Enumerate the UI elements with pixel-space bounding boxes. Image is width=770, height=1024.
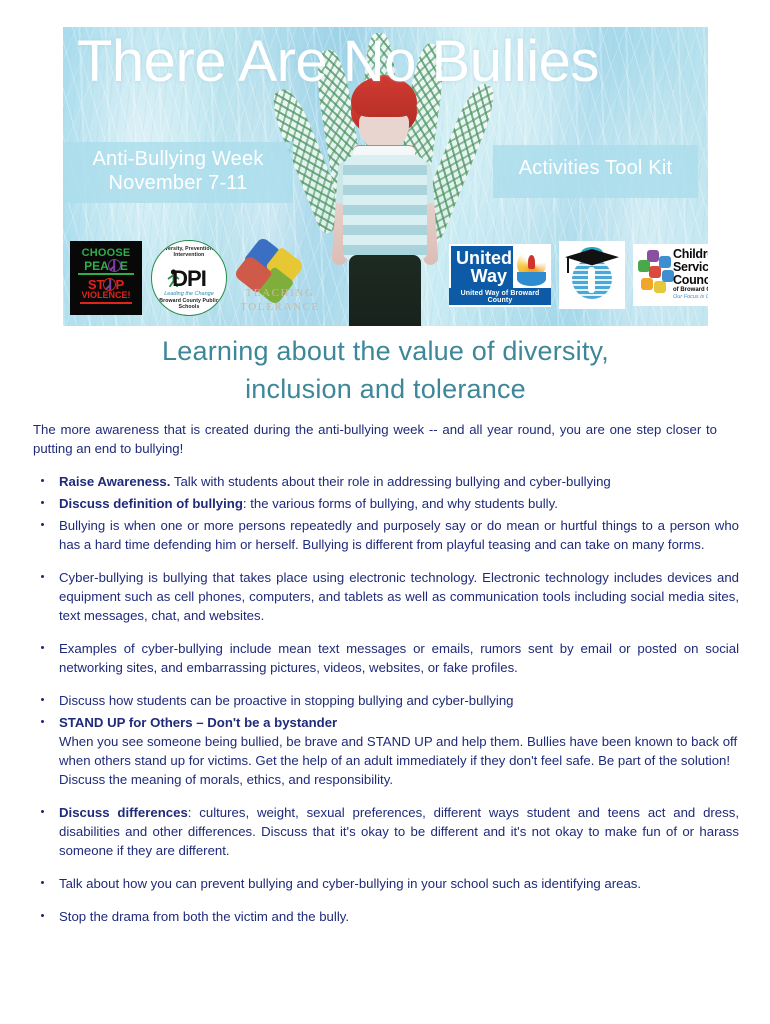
list-item-raise-awareness: Raise Awareness. Talk with students abou…	[33, 472, 739, 491]
choose-peace-line4: VIOLENCE!	[74, 291, 138, 301]
choose-peace-line1: CHOOSE	[74, 248, 138, 259]
list-item-students-proactive: Discuss how students can be proactive in…	[33, 691, 739, 710]
sponsor-logo-row: CHOOSE PEAE STP VIOLENCE! Diversity, Pre…	[63, 235, 708, 317]
person-icon	[528, 255, 535, 269]
teaching-tolerance-wordmark: TEACHING TOLERANCE	[238, 287, 322, 315]
bullet-text: Discuss definition of bullying: the vari…	[59, 494, 739, 513]
document-body: The more awareness that is created durin…	[33, 420, 739, 929]
banner-title: There Are No Bullies	[77, 33, 708, 91]
list-item-bullying-definition: Bullying is when one or more persons rep…	[33, 516, 739, 554]
anti-bullying-week-line2: November 7-11	[63, 171, 293, 195]
bullet-text: Raise Awareness. Talk with students abou…	[59, 472, 739, 491]
bullet-body-stop-the-drama: Stop the drama from both the victim and …	[59, 907, 739, 926]
csc-subtitle: of Broward County	[673, 287, 708, 293]
bullet-body-students-proactive: Discuss how students can be proactive in…	[59, 691, 739, 710]
choose-peace-divider	[78, 273, 134, 275]
teaching-tolerance-logo: TEACHING TOLERANCE	[238, 237, 322, 317]
page-title: Learning about the value of diversity, i…	[63, 332, 708, 409]
united-way-line2: Way	[456, 268, 513, 286]
csc-tagline: Our Focus is Our Children	[673, 294, 708, 300]
bullet-body-stand-up: When you see someone being bullied, be b…	[59, 732, 739, 789]
teaching-tolerance-line2: TOLERANCE	[238, 301, 322, 315]
dpi-tagline: Leading the Change	[152, 291, 226, 297]
peace-symbol-icon	[108, 259, 121, 272]
bullet-body-bullying-definition: Bullying is when one or more persons rep…	[59, 516, 739, 554]
intro-paragraph: The more awareness that is created durin…	[33, 420, 717, 458]
list-item-discuss-definition: Discuss definition of bullying: the vari…	[33, 494, 739, 513]
bullet-body-discuss-definition: : the various forms of bullying, and why…	[243, 496, 558, 511]
puzzle-people-icon	[637, 250, 673, 298]
broward-schools-logo	[559, 241, 625, 309]
dpi-initials: DPI	[152, 268, 226, 290]
choose-peace-logo: CHOOSE PEAE STP VIOLENCE!	[70, 241, 142, 315]
page-title-line1: Learning about the value of diversity,	[63, 332, 708, 370]
bullet-lead-stand-up: STAND UP for Others – Don't be a bystand…	[59, 713, 739, 732]
tips-bullet-list: Raise Awareness. Talk with students abou…	[33, 472, 739, 926]
list-item-prevent-in-school: Talk about how you can prevent bullying …	[33, 874, 739, 893]
list-item-stand-up-for-others: STAND UP for Others – Don't be a bystand…	[33, 713, 739, 789]
graduation-cap-icon	[565, 249, 619, 266]
list-item-cyber-bullying-definition: Cyber-bullying is bullying that takes pl…	[33, 568, 739, 625]
anti-bullying-week-line1: Anti-Bullying Week	[63, 147, 293, 171]
activities-tool-kit-box: Activities Tool Kit	[493, 145, 698, 198]
csc-line1: Children's	[673, 248, 708, 261]
header-banner: There Are No Bullies Anti-Bullying Week …	[63, 27, 708, 326]
bullet-lead-discuss-definition: Discuss definition of bullying	[59, 496, 243, 511]
list-item-discuss-differences: Discuss differences: cultures, weight, s…	[33, 803, 739, 860]
dpi-arc-top-text: Diversity, Prevention & Intervention	[152, 246, 226, 258]
palm-tree-icon	[588, 267, 595, 293]
bullet-body-cyber-bullying-examples: Examples of cyber-bullying include mean …	[59, 639, 739, 677]
bullet-body-prevent-in-school: Talk about how you can prevent bullying …	[59, 874, 739, 893]
bullet-text: Discuss differences: cultures, weight, s…	[59, 803, 739, 860]
dpi-arc-bottom-text: Broward County Public Schools	[152, 298, 226, 310]
choose-peace-divider-2	[80, 302, 132, 304]
childrens-services-council-logo: Children's Services Council of Broward C…	[633, 244, 708, 306]
united-way-caption: United Way of Broward County	[449, 288, 551, 305]
supporting-hand-icon	[517, 272, 546, 286]
page-title-line2: inclusion and tolerance	[63, 370, 708, 408]
united-way-rainbow-mark	[514, 246, 549, 291]
csc-wordmark: Children's Services Council of Broward C…	[673, 248, 708, 300]
dpi-logo: Diversity, Prevention & Intervention DPI…	[151, 240, 227, 316]
choose-peace-line2: PEAE	[74, 259, 138, 272]
bullet-body-raise-awareness: Talk with students about their role in a…	[170, 474, 610, 489]
united-way-logo: United Way United Way of Broward County	[449, 244, 551, 307]
graduation-tassel-icon	[567, 257, 569, 273]
list-item-stop-the-drama: Stop the drama from both the victim and …	[33, 907, 739, 926]
list-item-cyber-bullying-examples: Examples of cyber-bullying include mean …	[33, 639, 739, 677]
bullet-lead-discuss-differences: Discuss differences	[59, 805, 188, 820]
bullet-lead-raise-awareness: Raise Awareness.	[59, 474, 170, 489]
csc-line2: Services	[673, 261, 708, 274]
teaching-tolerance-line1: TEACHING	[238, 287, 322, 301]
anti-bullying-week-box: Anti-Bullying Week November 7-11	[63, 142, 293, 203]
united-way-wordmark: United Way	[451, 246, 513, 291]
csc-line3: Council	[673, 274, 708, 287]
united-way-line1: United	[456, 250, 513, 268]
bullet-body-cyber-bullying-definition: Cyber-bullying is bullying that takes pl…	[59, 568, 739, 625]
